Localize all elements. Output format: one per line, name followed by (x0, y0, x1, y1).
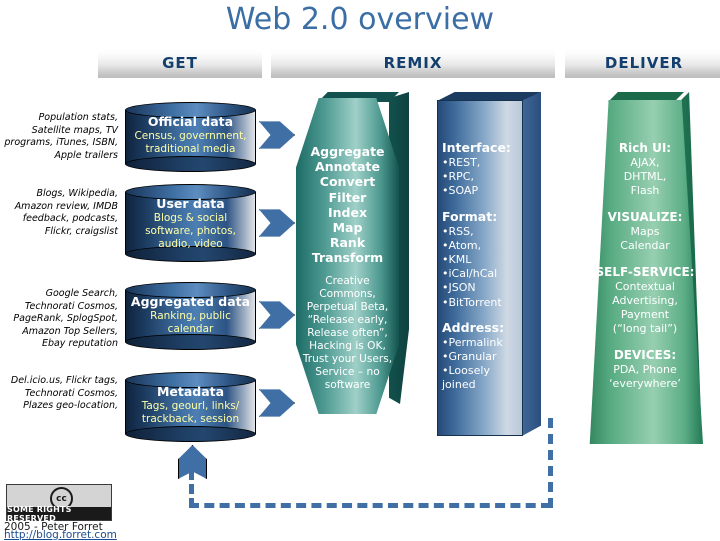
protocol-group-heading-address: Address: (442, 320, 522, 336)
cylinder-bottom-ellipse (125, 426, 256, 442)
deliver-item: Maps (593, 225, 697, 239)
deliver-item: Calendar (593, 239, 697, 253)
data-cylinder-user[interactable]: User data Blogs & social software, photo… (125, 184, 256, 262)
protocol-group-heading-interface: Interface: (442, 140, 522, 156)
remix-op-6: Rank (296, 235, 399, 250)
protocol-item: •Loosely (442, 364, 522, 378)
protocol-item: •RSS, (442, 225, 522, 239)
remix-op-2: Convert (296, 174, 399, 189)
deliver-item: (“long tail”) (593, 322, 697, 336)
phase-header-get: GET (98, 48, 262, 78)
cylinder-text: User data Blogs & social software, photo… (128, 196, 253, 251)
page-title: Web 2.0 overview (0, 2, 720, 37)
data-cylinder-official[interactable]: Official data Census, government, tradit… (125, 102, 256, 172)
deliver-item: Flash (593, 184, 697, 198)
source-caption-aggregated: Google Search, Technorati Cosmos, PageRa… (0, 288, 118, 351)
data-cylinder-metadata[interactable]: Metadata Tags, geourl, links/ trackback,… (125, 372, 256, 442)
protocol-item: •KML (442, 253, 522, 267)
protocol-item: •Permalink (442, 336, 522, 350)
remix-principles-text: Creative Commons, Perpetual Beta, “Relea… (296, 275, 399, 393)
spacer (442, 199, 522, 209)
remix-operations-text: Aggregate Annotate Convert Filter Index … (296, 144, 399, 392)
remix-protocols-text: Interface: •REST, •RPC, •SOAP Format: •R… (442, 140, 522, 393)
spacer (593, 198, 697, 209)
spacer (593, 336, 697, 347)
cylinder-bottom-ellipse (125, 334, 256, 350)
chevron-right-arrow-icon (259, 205, 295, 241)
protocol-item: •BitTorrent (442, 296, 522, 310)
diagram-canvas: Web 2.0 overview GET REMIX DELIVER Popul… (0, 0, 720, 540)
deliver-item: Advertising, (593, 294, 697, 308)
remix-op-3: Filter (296, 190, 399, 205)
deliver-group-heading-visualize: VISUALIZE: (593, 209, 697, 225)
deliver-item: ‘everywhere’ (593, 377, 697, 391)
protocol-item: joined (442, 378, 522, 392)
protocol-item: •REST, (442, 156, 522, 170)
shape-right-face (522, 92, 541, 436)
source-caption-user: Blogs, Wikipedia, Amazon review, IMDB fe… (0, 188, 118, 238)
cylinder-detail: Ranking, public calendar (128, 310, 253, 336)
phase-header-remix-label: REMIX (384, 54, 443, 72)
remix-op-5: Map (296, 220, 399, 235)
chevron-right-arrow-icon (259, 385, 295, 421)
deliver-group-heading-devices: DEVICES: (593, 347, 697, 363)
protocol-item: •Granular (442, 350, 522, 364)
deliver-shape[interactable]: Rich UI: AJAX, DHTML, Flash VISUALIZE: M… (585, 92, 720, 444)
source-caption-metadata: Del.icio.us, Flickr tags, Technorati Cos… (0, 375, 118, 413)
cylinder-bottom-ellipse (125, 156, 256, 172)
protocol-item: •iCal/hCal (442, 267, 522, 281)
cylinder-text: Metadata Tags, geourl, links/ trackback,… (128, 384, 253, 426)
protocol-item: •RPC, (442, 170, 522, 184)
deliver-group-heading-rich-ui: Rich UI: (593, 140, 697, 156)
chevron-right-arrow-icon (259, 117, 295, 153)
remix-op-4: Index (296, 205, 399, 220)
phase-header-deliver-label: DELIVER (605, 54, 683, 72)
protocol-item: •Atom, (442, 239, 522, 253)
deliver-item: AJAX, (593, 156, 697, 170)
cylinder-detail: Census, government, traditional media (128, 130, 253, 156)
cylinder-text: Aggregated data Ranking, public calendar (128, 294, 253, 336)
deliver-text: Rich UI: AJAX, DHTML, Flash VISUALIZE: M… (593, 140, 697, 391)
data-cylinder-aggregated[interactable]: Aggregated data Ranking, public calendar (125, 282, 256, 350)
remix-operations-shape[interactable]: Aggregate Annotate Convert Filter Index … (296, 92, 409, 414)
feedback-loop-right-segment (548, 418, 553, 508)
spacer (296, 266, 399, 275)
cylinder-detail: Blogs & social software, photos, audio, … (128, 212, 253, 251)
cylinder-heading: Aggregated data (128, 294, 253, 310)
author-blog-link[interactable]: http://blog.forret.com (4, 529, 134, 541)
phase-header-get-label: GET (162, 54, 198, 72)
deliver-item: Contextual (593, 280, 697, 294)
protocol-item: •SOAP (442, 184, 522, 198)
chevron-right-arrow-icon (259, 297, 295, 333)
deliver-group-heading-self-service: SELF-SERVICE: (593, 264, 697, 280)
feedback-loop-bottom-segment (189, 503, 551, 508)
cylinder-text: Official data Census, government, tradit… (128, 114, 253, 156)
spacer (593, 253, 697, 264)
cylinder-heading: Official data (128, 114, 253, 130)
deliver-item: DHTML, (593, 170, 697, 184)
protocol-item: •JSON (442, 281, 522, 295)
spacer (442, 310, 522, 320)
creative-commons-strip-label: SOME RIGHTS RESERVED (7, 507, 111, 520)
remix-op-7: Transform (296, 250, 399, 265)
deliver-item: Payment (593, 308, 697, 322)
cylinder-heading: Metadata (128, 384, 253, 400)
cylinder-detail: Tags, geourl, links/ trackback, session (128, 400, 253, 426)
protocol-group-heading-format: Format: (442, 209, 522, 225)
cylinder-heading: User data (128, 196, 253, 212)
phase-header-deliver: DELIVER (565, 48, 720, 78)
remix-protocols-shape[interactable]: Interface: •REST, •RPC, •SOAP Format: •R… (437, 92, 541, 444)
phase-header-remix: REMIX (271, 48, 555, 78)
creative-commons-badge[interactable]: cc SOME RIGHTS RESERVED (6, 484, 112, 521)
source-caption-official: Population stats, Satellite maps, TV pro… (0, 112, 118, 162)
deliver-item: PDA, Phone (593, 363, 697, 377)
remix-op-0: Aggregate (296, 144, 399, 159)
remix-op-1: Annotate (296, 159, 399, 174)
